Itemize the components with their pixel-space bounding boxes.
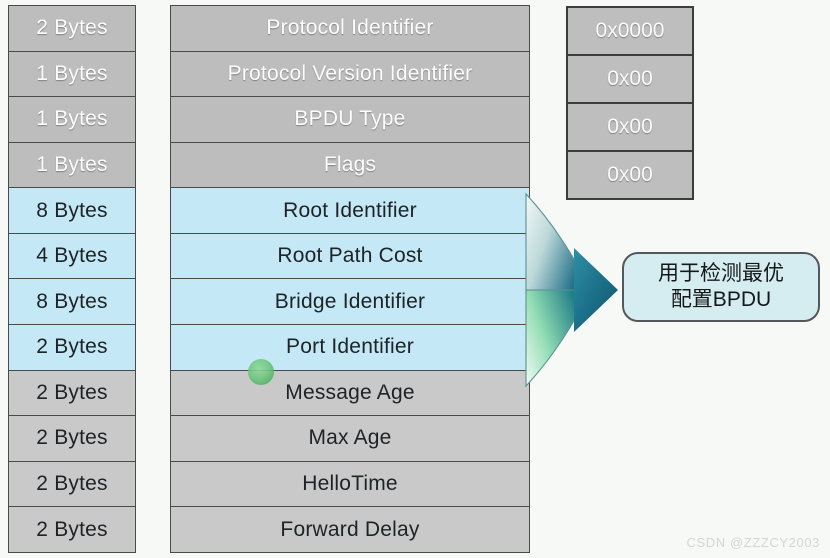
watermark-text: CSDN @ZZZCY2003	[687, 535, 820, 550]
hex-value-cell: 0x00	[566, 102, 694, 150]
hex-value-cell: 0x00	[566, 54, 694, 102]
hex-value-cell: 0x0000	[566, 6, 694, 54]
bpdu-field-column: Protocol Identifier Protocol Version Ide…	[170, 5, 530, 553]
field-size-column: 2 Bytes 1 Bytes 1 Bytes 1 Bytes 8 Bytes …	[8, 5, 136, 553]
field-cell-forward-delay: Forward Delay	[170, 506, 530, 553]
field-cell-port-identifier: Port Identifier	[170, 324, 530, 370]
field-cell-bridge-identifier: Bridge Identifier	[170, 278, 530, 324]
funnel-arrow-icon	[518, 190, 628, 390]
field-cell-root-identifier: Root Identifier	[170, 187, 530, 233]
field-cell-bpdu-type: BPDU Type	[170, 96, 530, 142]
size-cell: 1 Bytes	[8, 142, 136, 188]
size-cell: 2 Bytes	[8, 461, 136, 507]
callout-line-1: 用于检测最优	[658, 261, 784, 287]
size-cell: 2 Bytes	[8, 5, 136, 51]
size-cell: 2 Bytes	[8, 415, 136, 461]
size-cell: 8 Bytes	[8, 187, 136, 233]
field-cell-flags: Flags	[170, 142, 530, 188]
callout-line-2: 配置BPDU	[671, 287, 771, 313]
field-cell-hello-time: HelloTime	[170, 461, 530, 507]
field-cell-root-path-cost: Root Path Cost	[170, 233, 530, 279]
size-cell: 2 Bytes	[8, 506, 136, 553]
size-cell: 4 Bytes	[8, 233, 136, 279]
bpdu-frame-diagram: 2 Bytes 1 Bytes 1 Bytes 1 Bytes 8 Bytes …	[0, 0, 830, 558]
size-cell: 8 Bytes	[8, 278, 136, 324]
annotation-callout: 用于检测最优 配置BPDU	[622, 252, 820, 322]
field-cell-protocol-identifier: Protocol Identifier	[170, 5, 530, 51]
field-cell-protocol-version-identifier: Protocol Version Identifier	[170, 51, 530, 97]
size-cell: 1 Bytes	[8, 96, 136, 142]
size-cell: 2 Bytes	[8, 370, 136, 416]
field-cell-max-age: Max Age	[170, 415, 530, 461]
cursor-highlight-dot	[248, 359, 274, 385]
field-cell-message-age: Message Age	[170, 370, 530, 416]
size-cell: 1 Bytes	[8, 51, 136, 97]
size-cell: 2 Bytes	[8, 324, 136, 370]
hex-value-column: 0x0000 0x00 0x00 0x00	[566, 6, 694, 200]
